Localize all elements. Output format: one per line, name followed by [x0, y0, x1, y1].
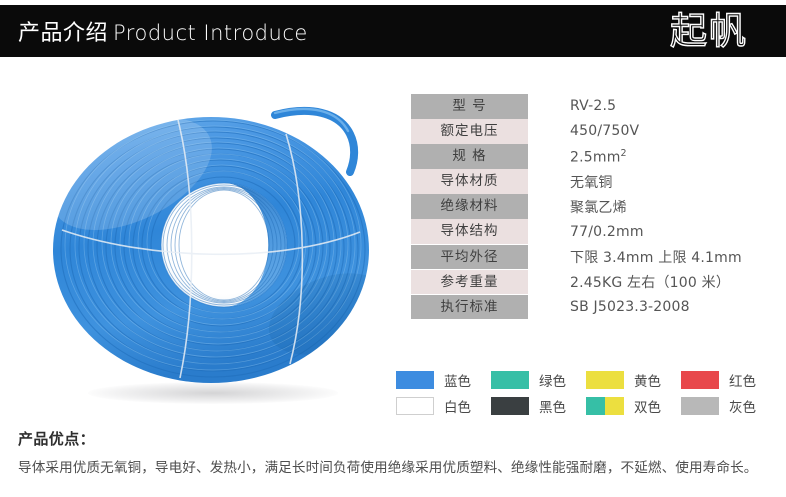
advantages-heading: 产品优点：: [18, 428, 766, 449]
spec-value: 2.45KG 左右（100 米）: [570, 272, 730, 292]
legend-item-black[interactable]: 黑色: [491, 396, 586, 416]
brand-logo: 起帆: [670, 13, 748, 50]
specification-table: 型 号 RV-2.5 额定电压 450/750V 规 格 2.5mm2 导体材质…: [411, 94, 771, 320]
legend-label: 黑色: [539, 396, 566, 416]
spec-label: 规 格: [411, 144, 528, 169]
wire-coil-svg: [28, 82, 394, 412]
spec-label: 执行标准: [411, 295, 528, 320]
spec-label: 导体材质: [411, 169, 528, 194]
legend-label: 白色: [444, 396, 471, 416]
spec-value-superscript: 2: [621, 148, 627, 159]
table-row: 参考重量 2.45KG 左右（100 米）: [411, 270, 771, 295]
legend-item-red[interactable]: 红色: [681, 370, 776, 390]
color-swatch-dual: [586, 397, 624, 415]
legend-row-1: 蓝色 绿色 黄色 红色: [396, 368, 776, 391]
spec-value: 2.5mm2: [570, 148, 627, 166]
color-swatch-black: [491, 397, 529, 415]
product-image: [28, 82, 394, 412]
spec-label: 型 号: [411, 94, 528, 119]
color-swatch-white: [396, 397, 434, 415]
spec-value-text: 2.5mm: [570, 149, 621, 165]
spec-value: 聚氯乙烯: [570, 197, 627, 217]
table-row: 执行标准 SB J5023.3-2008: [411, 295, 771, 320]
wire-coil-illustration: [28, 82, 394, 412]
color-swatch-yellow: [586, 371, 624, 389]
color-swatch-dual-left: [586, 397, 605, 415]
legend-row-2: 白色 黑色 双色 灰色: [396, 394, 776, 417]
spec-label: 平均外径: [411, 245, 528, 270]
legend-item-gray[interactable]: 灰色: [681, 396, 776, 416]
advantages-body: 导体采用优质无氧铜，导电好、发热小，满足长时间负荷使用绝缘采用优质塑料、绝缘性能…: [18, 457, 766, 481]
page-title: 产品介绍Product Introduce: [18, 15, 308, 47]
page-title-cn: 产品介绍: [18, 21, 108, 46]
table-row: 额定电压 450/750V: [411, 119, 771, 144]
legend-label: 绿色: [539, 370, 566, 390]
table-row: 导体材质 无氧铜: [411, 169, 771, 194]
spec-value: 77/0.2mm: [570, 224, 644, 240]
color-swatch-red: [681, 371, 719, 389]
color-options-legend: 蓝色 绿色 黄色 红色 白色 黑色 双色 灰色: [396, 368, 776, 420]
spec-value: RV-2.5: [570, 98, 616, 114]
product-advantages-section: 产品优点： 导体采用优质无氧铜，导电好、发热小，满足长时间负荷使用绝缘采用优质塑…: [18, 428, 766, 481]
color-swatch-green: [491, 371, 529, 389]
spec-label: 额定电压: [411, 119, 528, 144]
spec-label: 导体结构: [411, 219, 528, 244]
page-title-en: Product Introduce: [113, 21, 308, 45]
table-row: 型 号 RV-2.5: [411, 94, 771, 119]
spec-value: 450/750V: [570, 123, 639, 139]
legend-item-green[interactable]: 绿色: [491, 370, 586, 390]
legend-item-blue[interactable]: 蓝色: [396, 370, 491, 390]
legend-item-white[interactable]: 白色: [396, 396, 491, 416]
legend-label: 红色: [729, 370, 756, 390]
spec-label: 参考重量: [411, 270, 528, 295]
legend-item-yellow[interactable]: 黄色: [586, 370, 681, 390]
spec-value: 下限 3.4mm 上限 4.1mm: [570, 247, 742, 267]
table-row: 规 格 2.5mm2: [411, 144, 771, 169]
page-header: 产品介绍Product Introduce 起帆: [0, 5, 786, 57]
table-row: 绝缘材料 聚氯乙烯: [411, 194, 771, 219]
color-swatch-blue: [396, 371, 434, 389]
color-swatch-gray: [681, 397, 719, 415]
legend-label: 蓝色: [444, 370, 471, 390]
spec-label: 绝缘材料: [411, 194, 528, 219]
table-row: 平均外径 下限 3.4mm 上限 4.1mm: [411, 245, 771, 270]
table-row: 导体结构 77/0.2mm: [411, 219, 771, 244]
legend-label: 黄色: [634, 370, 661, 390]
legend-label: 灰色: [729, 396, 756, 416]
spec-value: SB J5023.3-2008: [570, 299, 690, 315]
legend-label: 双色: [634, 396, 661, 416]
legend-item-dual[interactable]: 双色: [586, 396, 681, 416]
color-swatch-dual-right: [605, 397, 624, 415]
spec-value: 无氧铜: [570, 172, 613, 192]
